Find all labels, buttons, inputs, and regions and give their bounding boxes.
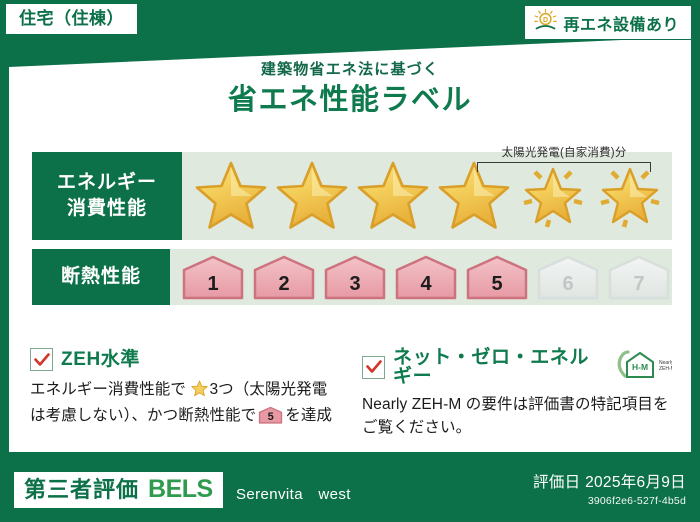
insulation-performance-row: 断熱性能 [32, 249, 672, 305]
note-zeh-standard: ZEH水準 エネルギー消費性能で 3つ（太陽光発電は考慮しない）、かつ断熱性能で… [30, 348, 340, 440]
solar-sun-icon: D [533, 8, 558, 38]
evaluation-info: 評価日 2025年6月9日 3906f2e6-527f-4b5d [533, 474, 686, 507]
note-text-part1: エネルギー消費性能で [30, 381, 186, 398]
checkbox-checked-icon [362, 356, 385, 379]
energy-label-line2: 消費性能 [67, 196, 147, 222]
evaluation-date: 評価日 2025年6月9日 [533, 474, 686, 491]
insulation-level: 5 [464, 254, 530, 300]
note-star-count: 3つ [209, 381, 233, 398]
note-body: エネルギー消費性能で 3つ（太陽光発電は考慮しない）、かつ断熱性能で 5 を達成 [30, 378, 340, 428]
bels-jp-label: 第三者評価 [24, 479, 139, 501]
energy-row-label: エネルギー 消費性能 [32, 152, 182, 240]
insulation-level: 3 [322, 254, 388, 300]
checkbox-checked-icon [30, 348, 53, 371]
svg-text:ZEH-M: ZEH-M [659, 366, 672, 372]
svg-text:H-M: H-M [632, 362, 648, 372]
star-icon [191, 380, 208, 404]
note-net-zero-energy: ネット・ゼロ・エネルギー H-M Nearly ZEH-M Nearly ZEH… [362, 348, 672, 440]
note-text-part3: を達成 [285, 407, 332, 424]
title-subtitle: 建築物省エネ法に基づく [0, 62, 700, 79]
evaluation-date-value: 2025年6月9日 [585, 474, 686, 491]
building-type-tag: 住宅（住棟） [5, 3, 138, 35]
insulation-level-value: 2 [251, 274, 317, 294]
star-icon [435, 158, 513, 234]
insulation-level-value: 5 [464, 274, 530, 294]
performance-rows: エネルギー 消費性能 [32, 152, 672, 314]
energy-row-body: 太陽光発電(自家消費)分 [182, 152, 672, 240]
insulation-label: 断熱性能 [61, 264, 141, 290]
note-body: Nearly ZEH-M の要件は評価書の特記項目をご覧ください。 [362, 393, 672, 440]
insulation-level-value: 4 [393, 274, 459, 294]
note-header: ZEH水準 [30, 348, 340, 371]
insulation-row-body: 1 2 3 [170, 249, 672, 305]
star-solar-icon [516, 158, 590, 234]
insulation-level-value: 1 [180, 274, 246, 294]
insulation-scale: 1 2 3 [176, 254, 672, 300]
insulation-badge-icon: 5 [258, 406, 283, 424]
insulation-level: 1 [180, 254, 246, 300]
evaluation-id: 3906f2e6-527f-4b5d [533, 495, 686, 507]
bels-certification-box: 第三者評価 BELS [14, 472, 223, 508]
bels-logo-text: BELS [148, 477, 213, 502]
star-rating [188, 154, 667, 238]
insulation-level: 4 [393, 254, 459, 300]
insulation-badge-value: 5 [258, 412, 283, 423]
insulation-level: 2 [251, 254, 317, 300]
insulation-level-value: 7 [606, 274, 672, 294]
building-name: Serenvita west [236, 483, 351, 504]
renewable-energy-badge: D 再エネ設備あり [524, 5, 692, 40]
insulation-level-value: 6 [535, 274, 601, 294]
title-block: 建築物省エネ法に基づく 省エネ性能ラベル [0, 62, 700, 116]
insulation-level: 6 [535, 254, 601, 300]
note-title: ネット・ゼロ・エネルギー [393, 348, 600, 386]
nearly-zeh-m-logo: H-M Nearly ZEH-M [614, 350, 672, 385]
star-solar-icon [593, 158, 667, 234]
footer: 第三者評価 BELS Serenvita west 評価日 2025年6月9日 … [0, 460, 700, 522]
evaluation-date-label: 評価日 [533, 474, 580, 491]
note-title: ZEH水準 [61, 350, 140, 369]
star-icon [192, 158, 270, 234]
energy-performance-label: 住宅（住棟） D 再エ [0, 0, 700, 522]
insulation-level: 7 [606, 254, 672, 300]
energy-label-line1: エネルギー [57, 170, 157, 196]
insulation-level-value: 3 [322, 274, 388, 294]
star-icon [273, 158, 351, 234]
energy-performance-row: エネルギー 消費性能 [32, 152, 672, 240]
note-header: ネット・ゼロ・エネルギー H-M Nearly ZEH-M [362, 348, 672, 386]
renewable-badge-label: 再エネ設備あり [563, 11, 679, 35]
notes-section: ZEH水準 エネルギー消費性能で 3つ（太陽光発電は考慮しない）、かつ断熱性能で… [30, 348, 674, 440]
insulation-row-label: 断熱性能 [32, 249, 170, 305]
star-icon [354, 158, 432, 234]
page-title: 省エネ性能ラベル [0, 85, 700, 117]
svg-text:D: D [543, 17, 548, 24]
